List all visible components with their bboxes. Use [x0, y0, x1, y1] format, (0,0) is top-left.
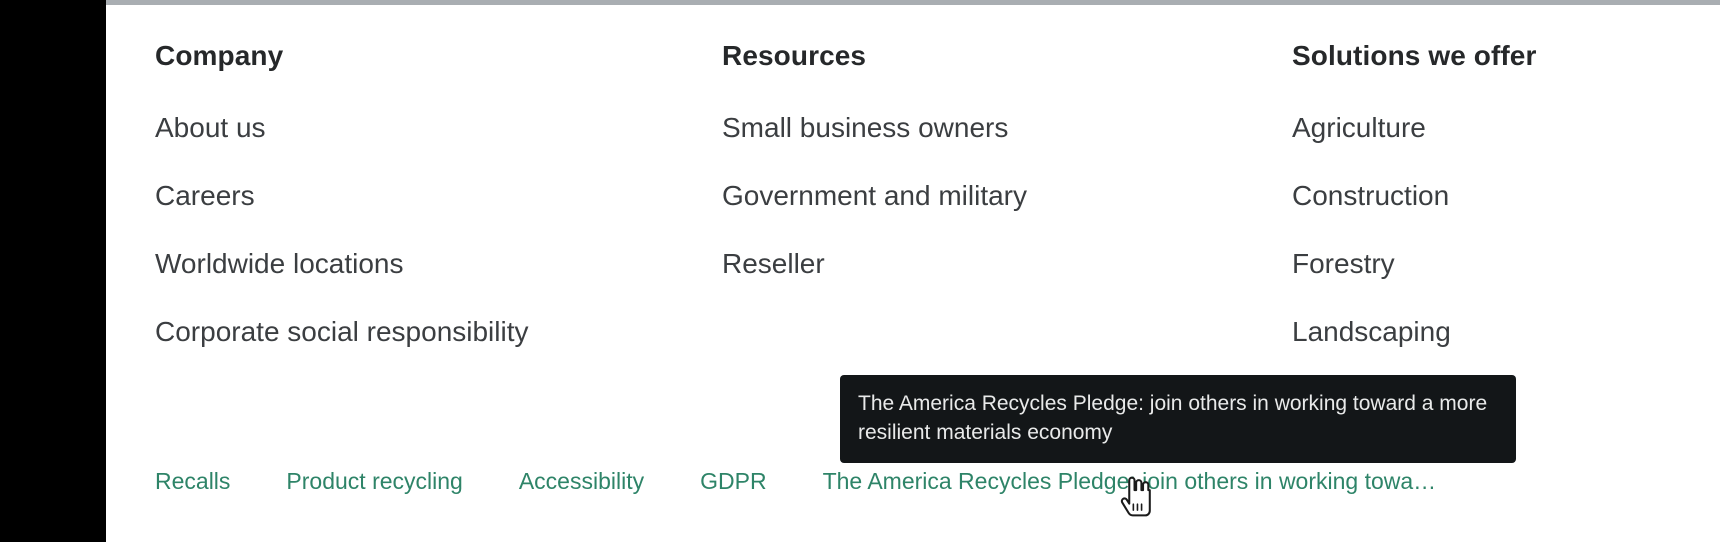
list-item: Reseller [722, 247, 1242, 281]
footer-link-small-business-owners[interactable]: Small business owners [722, 111, 1008, 145]
footer-column-company: Company About us Careers Worldwide locat… [155, 39, 675, 383]
footer-link-construction[interactable]: Construction [1292, 179, 1449, 213]
list-item: Government and military [722, 179, 1242, 213]
tooltip-text: The America Recycles Pledge: join others… [858, 392, 1487, 444]
footer-link-about-us[interactable]: About us [155, 111, 266, 145]
utility-link-gdpr[interactable]: GDPR [700, 467, 766, 495]
utility-link-america-recycles-pledge[interactable]: The America Recycles Pledge: join others… [823, 467, 1437, 495]
footer-link-reseller[interactable]: Reseller [722, 247, 825, 281]
utility-link-recalls[interactable]: Recalls [155, 467, 230, 495]
footer-link-list: Agriculture Construction Forestry Landsc… [1292, 111, 1712, 349]
link-tooltip: The America Recycles Pledge: join others… [840, 375, 1516, 463]
footer-link-government-and-military[interactable]: Government and military [722, 179, 1027, 213]
footer-link-landscaping[interactable]: Landscaping [1292, 315, 1451, 349]
list-item: Corporate social responsibility [155, 315, 675, 349]
list-item: Careers [155, 179, 675, 213]
list-item: Agriculture [1292, 111, 1712, 145]
footer-column-heading: Company [155, 39, 675, 73]
footer-utility-link-row: Recalls Product recycling Accessibility … [155, 467, 1436, 495]
list-item: Landscaping [1292, 315, 1712, 349]
footer-link-agriculture[interactable]: Agriculture [1292, 111, 1426, 145]
utility-link-accessibility[interactable]: Accessibility [519, 467, 644, 495]
left-black-rail [0, 0, 106, 542]
footer-link-forestry[interactable]: Forestry [1292, 247, 1395, 281]
footer-link-corporate-social-responsibility[interactable]: Corporate social responsibility [155, 315, 529, 349]
footer-column-heading: Resources [722, 39, 1242, 73]
footer-column-resources: Resources Small business owners Governme… [722, 39, 1242, 315]
footer-columns: Company About us Careers Worldwide locat… [106, 5, 1720, 405]
list-item: About us [155, 111, 675, 145]
page-panel: Company About us Careers Worldwide locat… [106, 0, 1720, 542]
footer-link-list: About us Careers Worldwide locations Cor… [155, 111, 675, 349]
footer-link-worldwide-locations[interactable]: Worldwide locations [155, 247, 404, 281]
screen: Company About us Careers Worldwide locat… [0, 0, 1720, 542]
footer-link-list: Small business owners Government and mil… [722, 111, 1242, 281]
footer-column-heading: Solutions we offer [1292, 39, 1712, 73]
utility-link-product-recycling[interactable]: Product recycling [286, 467, 462, 495]
list-item: Small business owners [722, 111, 1242, 145]
footer-column-solutions: Solutions we offer Agriculture Construct… [1292, 39, 1712, 383]
list-item: Forestry [1292, 247, 1712, 281]
footer-link-careers[interactable]: Careers [155, 179, 255, 213]
list-item: Worldwide locations [155, 247, 675, 281]
list-item: Construction [1292, 179, 1712, 213]
